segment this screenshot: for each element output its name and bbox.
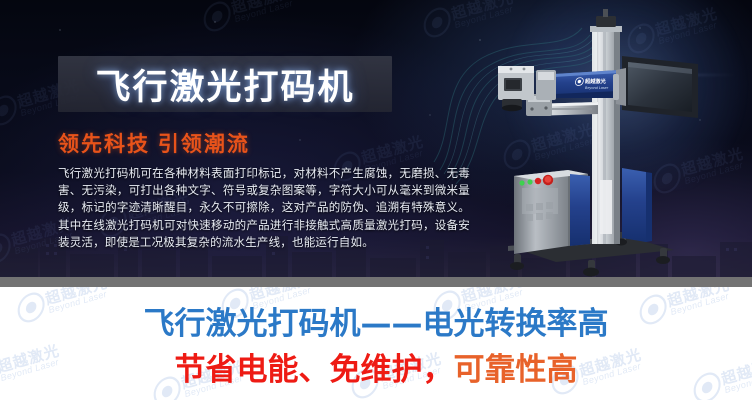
indicator-light-red — [535, 178, 541, 184]
hero-description-text: 飞行激光打码机可在各种材料表面打印标记，对材料不产生腐蚀，无磨损、无毒害、无污染… — [58, 166, 470, 252]
product-banner: ⦿ 超越激光 Beyond Laser ⦿ 超越激光 Beyond Laser … — [0, 0, 752, 400]
indicator-light-green — [519, 180, 524, 185]
footer-headline-orange-segment: 可靠性高 — [454, 352, 578, 388]
hero-dark-panel: ⦿ 超越激光 Beyond Laser ⦿ 超越激光 Beyond Laser … — [0, 0, 752, 278]
product-photo-laser-marking-machine: ⦿ 超越激光 Beyond Laser — [470, 8, 752, 278]
machine-touchscreen-panel — [613, 56, 698, 118]
laser-head-brand-en: Beyond Laser — [585, 86, 609, 90]
machine-vertical-column — [590, 9, 622, 244]
footer-headline-primary: 飞行激光打码机——电光转换率高 — [0, 298, 752, 343]
hero-description: 飞行激光打码机可在各种材料表面打印标记，对材料不产生腐蚀，无磨损、无毒害、无污染… — [58, 166, 470, 252]
footer-light-panel: ⦿ 超越激光 Beyond Laser ⦿ 超越激光 Beyond Laser … — [0, 287, 752, 400]
indicator-light-green-2 — [527, 179, 532, 184]
hero-subtitle: 领先科技 引领潮流 — [58, 128, 250, 158]
section-divider — [0, 277, 752, 287]
page-title: 飞行激光打码机 — [58, 56, 392, 112]
hero-title-plate: 飞行激光打码机 — [58, 56, 392, 112]
laser-head-brand-cn: 超越激光 — [584, 77, 607, 85]
machine-top-sensor — [596, 16, 616, 27]
footer-headline-secondary: 节省电能、免维护，可靠性高 — [0, 344, 752, 389]
footer-headline-red-segment: 节省电能、免维护， — [175, 352, 454, 388]
